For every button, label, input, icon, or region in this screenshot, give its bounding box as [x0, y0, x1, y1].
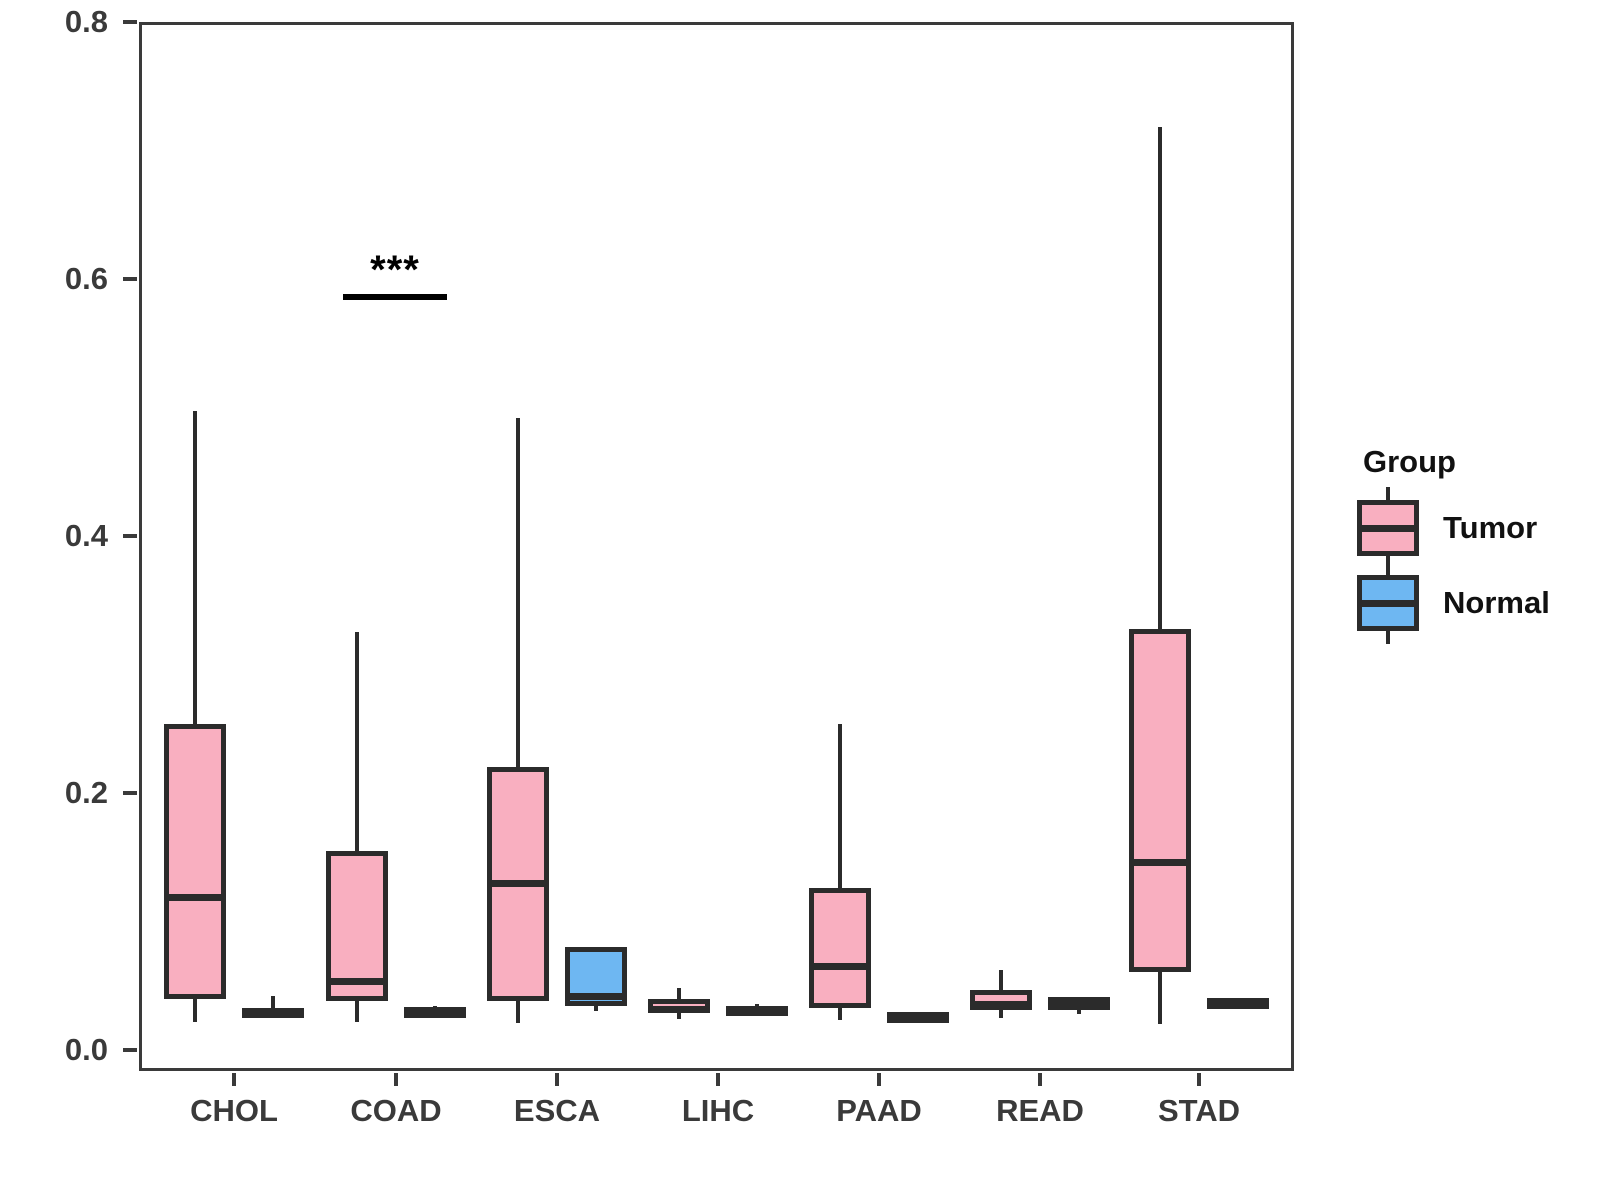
whisker-lower — [355, 1001, 359, 1022]
legend-key-median — [1357, 525, 1419, 532]
whisker-upper — [355, 632, 359, 850]
box-paad-tumor — [809, 888, 871, 1008]
whisker-upper — [1158, 127, 1162, 628]
x-tick-label-esca: ESCA — [514, 1093, 600, 1129]
median-line — [809, 963, 871, 970]
boxplot-figure: Methylation in Gene Promoter 0.00.20.40.… — [0, 0, 1600, 1200]
x-tick-mark — [394, 1073, 398, 1086]
box-chol-tumor — [164, 724, 226, 999]
x-tick-label-coad: COAD — [350, 1093, 441, 1129]
whisker-lower — [1077, 1010, 1081, 1014]
x-tick-mark — [232, 1073, 236, 1086]
median-line — [565, 993, 627, 1000]
median-line — [404, 1007, 466, 1014]
median-line — [242, 1008, 304, 1015]
x-tick-label-stad: STAD — [1158, 1093, 1240, 1129]
whisker-upper — [193, 411, 197, 723]
median-line — [970, 1001, 1032, 1008]
median-line — [648, 1006, 710, 1013]
whisker-lower — [516, 1001, 520, 1023]
x-tick-mark — [877, 1073, 881, 1086]
x-tick-mark — [555, 1073, 559, 1086]
x-tick-label-paad: PAAD — [836, 1093, 922, 1129]
x-tick-label-lihc: LIHC — [682, 1093, 754, 1129]
x-tick-label-chol: CHOL — [190, 1093, 278, 1129]
median-line — [726, 1006, 788, 1013]
x-tick-mark — [1038, 1073, 1042, 1086]
significance-bracket-line — [343, 294, 447, 300]
median-line — [326, 978, 388, 985]
whisker-lower — [1158, 972, 1162, 1025]
box-stad-tumor — [1129, 629, 1191, 972]
legend-label-tumor: Tumor — [1443, 510, 1537, 546]
median-line — [1207, 998, 1269, 1005]
legend-key-median — [1357, 600, 1419, 607]
whisker-lower — [594, 1006, 598, 1011]
whisker-upper — [677, 988, 681, 998]
x-tick-mark — [1197, 1073, 1201, 1086]
median-line — [1129, 859, 1191, 866]
whisker-upper — [516, 418, 520, 768]
legend-title: Group — [1363, 444, 1456, 480]
median-line — [887, 1012, 949, 1019]
x-tick-mark — [716, 1073, 720, 1086]
whisker-lower — [838, 1008, 842, 1021]
median-line — [164, 894, 226, 901]
median-line — [1048, 1001, 1110, 1008]
whisker-lower — [193, 999, 197, 1022]
whisker-upper — [271, 996, 275, 1008]
median-line — [487, 880, 549, 887]
legend-key-whisker-lower — [1386, 629, 1390, 644]
x-tick-label-read: READ — [996, 1093, 1084, 1129]
whisker-upper — [999, 970, 1003, 989]
whisker-lower — [999, 1010, 1003, 1018]
whisker-lower — [677, 1013, 681, 1019]
whisker-upper — [838, 724, 842, 888]
significance-stars: *** — [370, 250, 420, 290]
legend-label-normal: Normal — [1443, 585, 1550, 621]
